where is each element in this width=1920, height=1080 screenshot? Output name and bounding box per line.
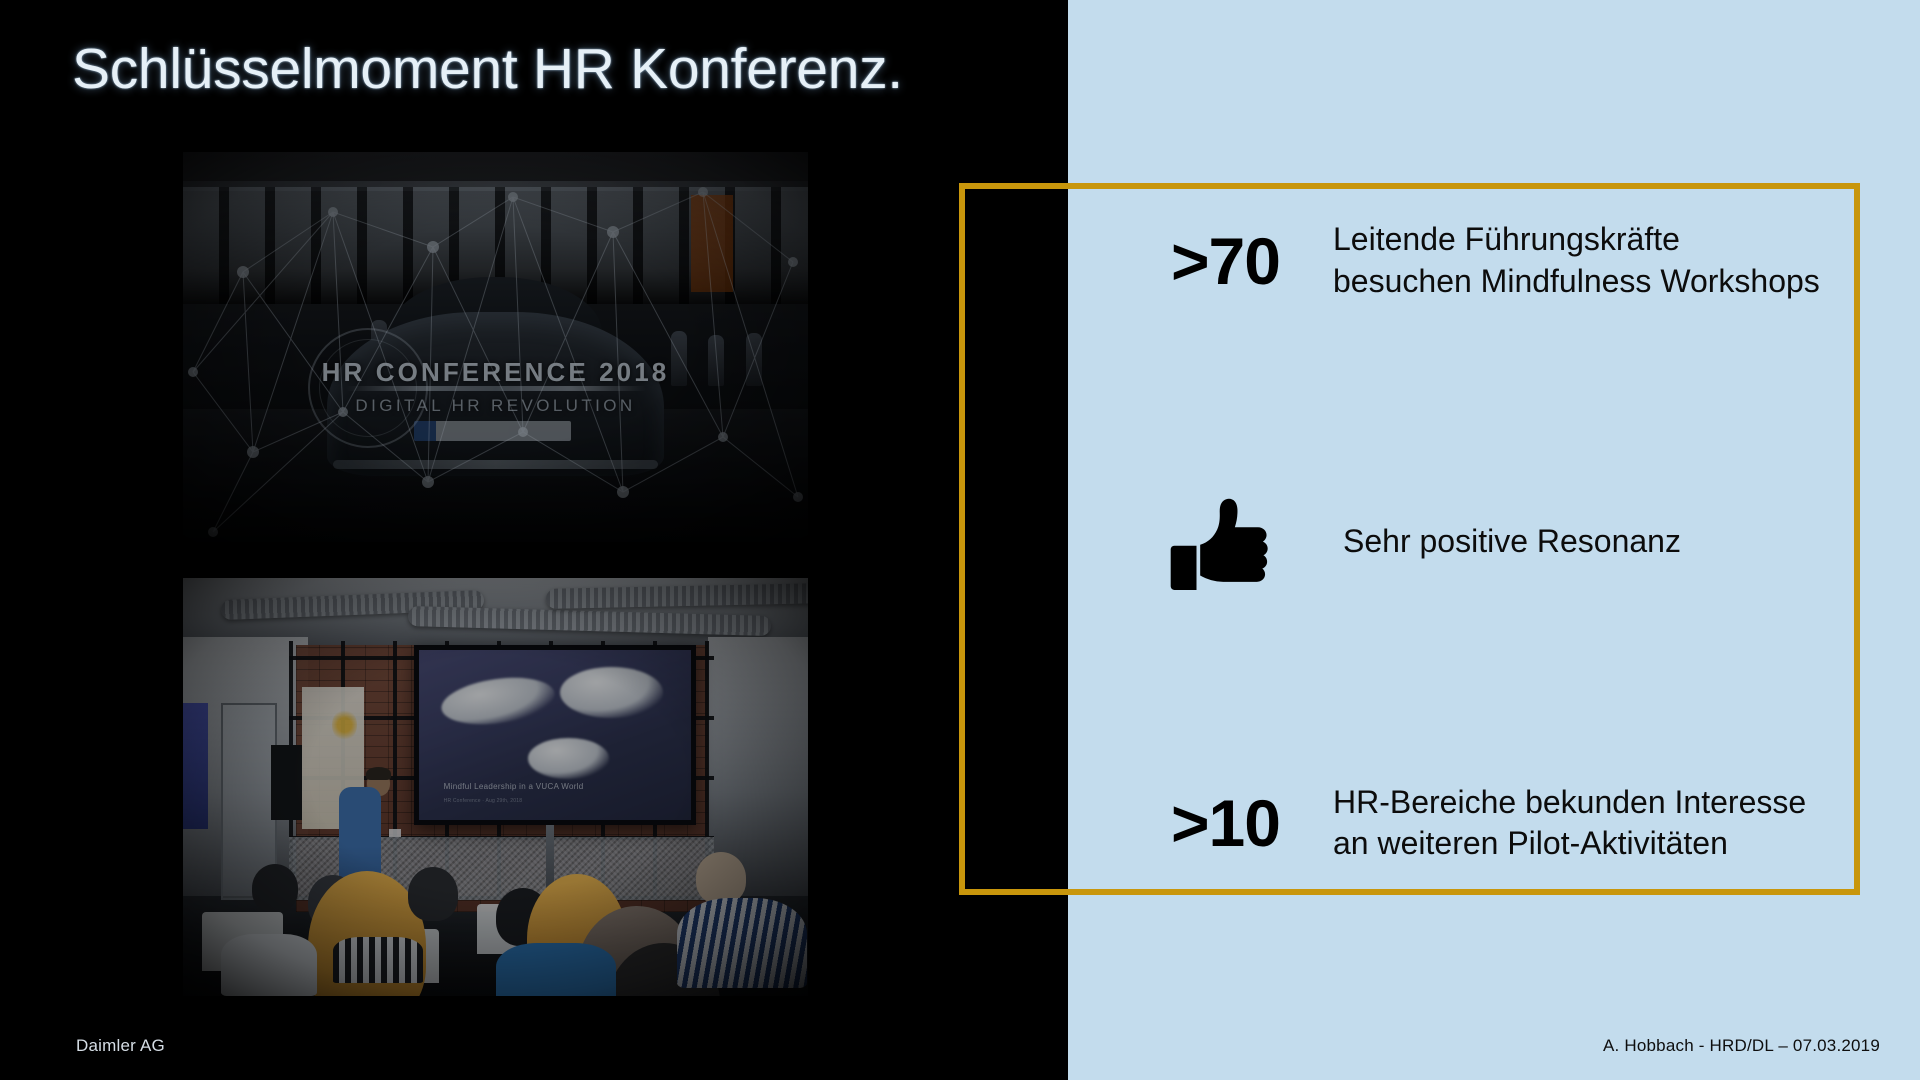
audience-head bbox=[252, 864, 298, 912]
audience-white-shirt bbox=[221, 934, 317, 996]
kpi-figure-10: >10 bbox=[1118, 790, 1333, 856]
presenter-name-badge bbox=[389, 829, 401, 837]
screen-cloud-graphic bbox=[560, 667, 663, 718]
audience-striped-shirt bbox=[677, 898, 807, 988]
kpi-item-resonance: Sehr positive Resonanz bbox=[1118, 483, 1820, 601]
projector-screen: Mindful Leadership in a VUCA World HR Co… bbox=[414, 645, 695, 825]
thumbs-up-icon bbox=[1118, 483, 1333, 601]
screen-cloud-graphic bbox=[438, 671, 557, 731]
kpi-list: >70 Leitende Führungskräfte besuchen Min… bbox=[1068, 183, 1860, 895]
kpi-item-departments: >10 HR-Bereiche bekunden Interesse an we… bbox=[1118, 782, 1820, 865]
screen-cloud-graphic bbox=[528, 738, 609, 779]
kpi-text-departments: HR-Bereiche bekunden Interesse an weiter… bbox=[1333, 782, 1820, 865]
blue-light-panel bbox=[183, 703, 208, 828]
page-title: Schlüsselmoment HR Konferenz. bbox=[72, 36, 903, 102]
presentation-slide: Schlüsselmoment HR Konferenz. bbox=[0, 0, 1920, 1080]
audience-head bbox=[696, 852, 746, 904]
workshop-audience-photo: Mindful Leadership in a VUCA World HR Co… bbox=[183, 578, 808, 996]
kpi-text-leaders: Leitende Führungskräfte besuchen Mindful… bbox=[1333, 219, 1820, 302]
footer-company: Daimler AG bbox=[76, 1036, 165, 1056]
audience-head bbox=[408, 867, 458, 921]
screen-slide-subtitle: HR Conference · Aug 29th, 2018 bbox=[444, 798, 523, 804]
screen-slide-title: Mindful Leadership in a VUCA World bbox=[444, 782, 584, 791]
kpi-text-resonance: Sehr positive Resonanz bbox=[1333, 521, 1820, 563]
conference-wordmark-primary: HR CONFERENCE 2018 bbox=[183, 357, 808, 388]
conference-wordmark-secondary: DIGITAL HR REVOLUTION bbox=[183, 396, 808, 416]
network-graph-overlay bbox=[183, 152, 808, 542]
loudspeaker bbox=[271, 745, 302, 820]
kpi-figure-70: >70 bbox=[1118, 228, 1333, 294]
kpi-item-leaders: >70 Leitende Führungskräfte besuchen Min… bbox=[1118, 219, 1820, 302]
hr-conference-photo: HR CONFERENCE 2018 DIGITAL HR REVOLUTION bbox=[183, 152, 808, 542]
audience-striped-shirt bbox=[333, 937, 423, 983]
audience-blue-shirt bbox=[496, 943, 616, 996]
footer-author-date: A. Hobbach - HRD/DL – 07.03.2019 bbox=[1603, 1036, 1880, 1056]
